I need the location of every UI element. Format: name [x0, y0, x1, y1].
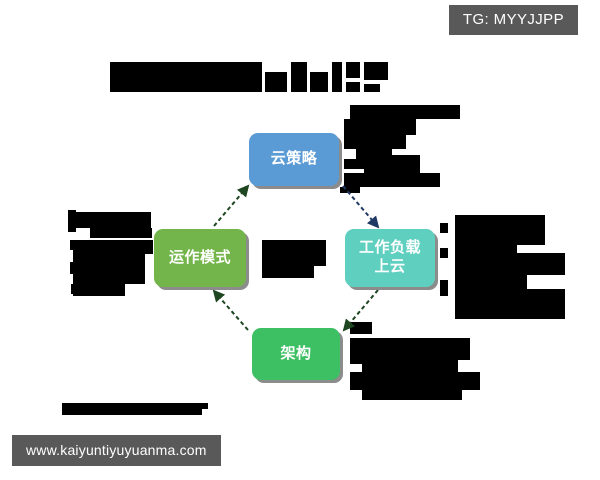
redaction-block — [73, 212, 151, 228]
redaction-block — [455, 275, 527, 289]
redaction-block — [440, 280, 448, 296]
redaction-block — [310, 72, 328, 92]
redaction-block — [455, 253, 565, 275]
watermark-banner: www.kaiyuntiyuyuanma.com — [12, 435, 221, 466]
redaction-block — [340, 187, 360, 193]
redaction-block — [346, 62, 360, 78]
redaction-block — [291, 62, 307, 92]
redaction-block — [73, 254, 145, 284]
node-workload-to-cloud[interactable]: 工作负载 上云 — [345, 229, 435, 287]
cycle-center-label — [262, 240, 326, 278]
node-cloud-strategy-label: 云策略 — [271, 150, 318, 169]
redaction-block — [350, 322, 372, 334]
redaction-block — [364, 62, 388, 80]
redaction-block — [62, 403, 202, 415]
redaction-block — [346, 82, 360, 92]
redaction-block — [110, 62, 262, 92]
node-architecture-label: 架构 — [280, 345, 311, 364]
redaction-block — [455, 215, 545, 245]
redaction-block — [196, 403, 208, 409]
redaction-block — [440, 223, 448, 233]
connector-architecture-to-operating-model — [214, 291, 248, 330]
redaction-block — [362, 388, 462, 400]
redaction-block — [344, 173, 440, 187]
connector-operating-model-to-cloud-strategy — [214, 186, 248, 226]
redaction-block — [265, 72, 287, 92]
node-workload-to-cloud-label-line2: 上云 — [374, 258, 405, 277]
page-title — [110, 62, 380, 92]
redaction-block — [350, 105, 460, 119]
node-cloud-strategy[interactable]: 云策略 — [249, 133, 339, 186]
redaction-block — [440, 248, 448, 258]
redaction-block — [364, 84, 380, 92]
redaction-block — [332, 62, 342, 92]
redaction-block — [262, 240, 326, 266]
redaction-block — [262, 266, 314, 278]
redaction-block — [344, 135, 406, 149]
redaction-block — [90, 228, 152, 238]
node-architecture[interactable]: 架构 — [252, 328, 340, 380]
node-workload-to-cloud-label-line1: 工作负载 — [359, 239, 421, 258]
redaction-block — [455, 289, 565, 319]
node-operating-model-label: 运作模式 — [169, 249, 231, 268]
redaction-block — [344, 159, 364, 169]
redaction-block — [362, 358, 458, 372]
redaction-block — [73, 284, 125, 296]
node-operating-model[interactable]: 运作模式 — [154, 229, 246, 287]
tg-tag-banner: TG: MYYJJPP — [449, 5, 578, 35]
slide-canvas: 云策略 工作负载 上云 架构 运作模式 TG: MYYJJPP www.kaiy… — [0, 0, 600, 480]
redaction-block — [344, 119, 416, 135]
redaction-block — [73, 240, 153, 254]
